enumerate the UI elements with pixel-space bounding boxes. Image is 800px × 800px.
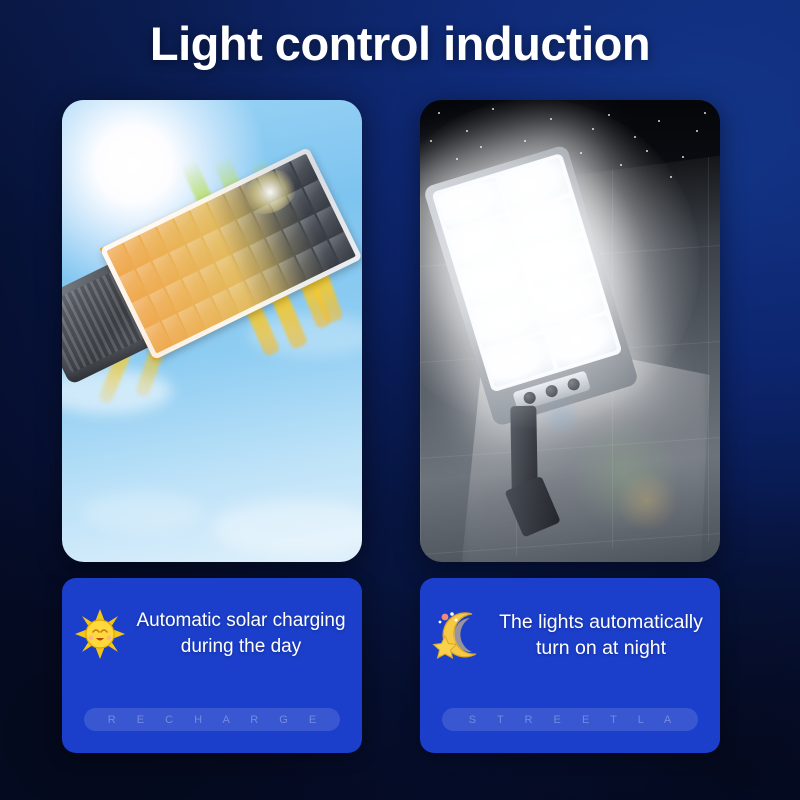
star [550,118,552,120]
caption-row: The lights automatically turn on at nigh… [420,608,720,662]
page-title: Light control induction [0,14,800,74]
caption-text: Automatic solar charging during the day [132,608,350,660]
star [430,140,432,142]
photo-led-lamp-night [420,100,720,562]
streetlamp-pill-label: S T R E E T L A [460,714,680,726]
promo-banner: Light control induction [0,0,800,800]
star [696,130,698,132]
star [466,130,468,132]
sensor-dot-icon [566,377,581,392]
star [480,146,482,148]
star [524,140,526,142]
caption-row: Automatic solar charging during the day [62,608,362,660]
sensor-dot-icon [522,390,537,405]
photo-solar-panel-daytime [62,100,362,562]
star [492,108,494,110]
star [456,158,458,160]
moon-star-icon [432,608,488,662]
star [704,112,706,114]
star [682,156,684,158]
sensor-dot-icon [544,384,559,399]
caption-card-night: The lights automatically turn on at nigh… [420,578,720,753]
star [592,128,594,130]
caption-card-daytime: Automatic solar charging during the day … [62,578,362,753]
sun-icon [74,608,126,660]
star [438,112,440,114]
star [608,114,610,116]
caption-text: The lights automatically turn on at nigh… [494,609,708,661]
streetlamp-pill[interactable]: S T R E E T L A [442,708,698,731]
recharge-pill-label: R E C H A R G E [99,714,326,726]
star [658,120,660,122]
recharge-pill[interactable]: R E C H A R G E [84,708,340,731]
